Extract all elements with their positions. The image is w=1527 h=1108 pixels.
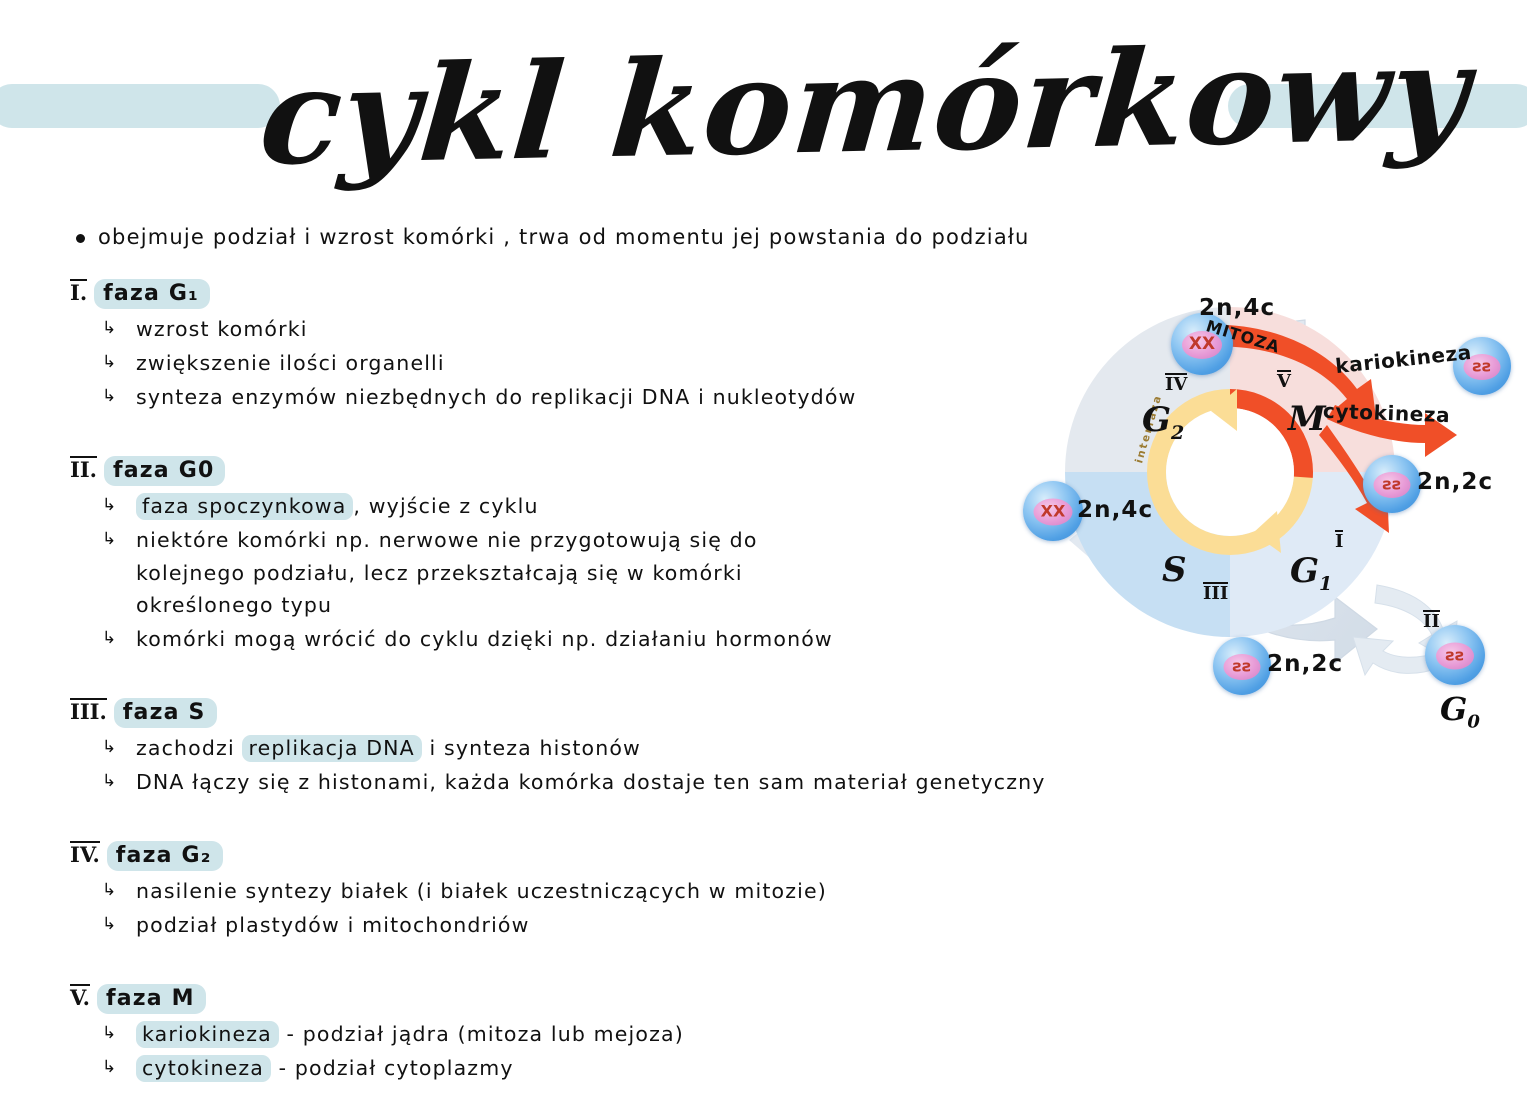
cell-g0: ƨƨ — [1425, 625, 1485, 685]
phase-letter: G — [1440, 690, 1467, 728]
list-item-text: - podział jądra (mitoza lub mejoza) — [279, 1022, 684, 1046]
arrow-icon: ↳ — [102, 527, 117, 551]
section-title: faza G₁ — [94, 279, 210, 309]
list-item-text: DNA łączy się z histonami, każda komórka… — [136, 770, 1046, 794]
cell-bottom: ƨƨ — [1213, 637, 1271, 695]
title-highlight-left — [0, 84, 280, 128]
chromosomes-single: ƨƨ — [1232, 657, 1251, 676]
list-item: ↳ DNA łączy się z histonami, każda komór… — [96, 768, 1270, 797]
cell-cycle-diagram: interfaza G2 M S G1 IV V III I II MITOZA… — [1005, 285, 1525, 750]
intro-bullet: obejmuje podział i wzrost komórki , trwa… — [70, 225, 1270, 249]
highlighted-term: cytokineza — [136, 1055, 271, 1082]
list-item-prefix: zachodzi — [136, 736, 242, 760]
page-title: cykl komórkowy — [255, 32, 1268, 185]
cell-right: ƨƨ — [1363, 455, 1421, 513]
list-item: ↳ cytokineza - podział cytoplazmy — [96, 1054, 1270, 1083]
list-item: ↳ nasilenie syntezy białek (i białek ucz… — [96, 877, 1270, 906]
arrow-icon: ↳ — [102, 626, 117, 650]
arrow-icon: ↳ — [102, 1055, 117, 1079]
cytokineza-label: cytokineza — [1323, 399, 1451, 427]
list-item-text: niektóre komórki np. nerwowe nie przygot… — [136, 528, 758, 552]
bullet-dot-icon — [76, 234, 85, 243]
highlighted-term: kariokineza — [136, 1021, 279, 1048]
list-item-text: - podział cytoplazmy — [271, 1056, 514, 1080]
arrow-icon: ↳ — [102, 912, 117, 936]
section-title: faza M — [97, 984, 206, 1014]
section-g2: IV. faza G₂ ↳ nasilenie syntezy białek (… — [70, 841, 1270, 940]
section-title: faza S — [114, 698, 217, 728]
cell-label-left: 2n,4c — [1077, 497, 1153, 523]
arrow-icon: ↳ — [102, 493, 117, 517]
section-numeral: I. — [70, 279, 87, 304]
arrow-icon: ↳ — [102, 350, 117, 374]
section-title: faza G₂ — [107, 841, 223, 871]
list-item-text: i synteza histonów — [422, 736, 641, 760]
list-item: ↳ kariokineza - podział jądra (mitoza lu… — [96, 1020, 1270, 1049]
list-item-text: synteza enzymów niezbędnych do replikacj… — [136, 385, 856, 409]
arrow-icon: ↳ — [102, 1021, 117, 1045]
cell-left: XX — [1023, 481, 1083, 541]
chromosomes-single: ƨƨ — [1382, 475, 1401, 494]
page-title-row: cykl komórkowy — [0, 60, 1527, 200]
note-page: cykl komórkowy obejmuje podział i wzrost… — [0, 0, 1527, 1080]
section-numeral: II. — [70, 456, 97, 481]
list-item-text: nasilenie syntezy białek (i białek uczes… — [136, 879, 827, 903]
section-title: faza G0 — [104, 456, 226, 486]
phase-subscript: 0 — [1467, 711, 1480, 732]
list-item-text: , wyjście z cyklu — [353, 494, 538, 518]
section-numeral: V. — [70, 984, 90, 1009]
cell-label-bottom: 2n,2c — [1267, 651, 1343, 677]
section-numeral: III. — [70, 698, 107, 723]
arrow-icon: ↳ — [102, 384, 117, 408]
arrow-icon: ↳ — [102, 735, 117, 759]
list-item: ↳ podział plastydów i mitochondriów — [96, 911, 1270, 940]
chromosomes-xx: XX — [1189, 334, 1215, 354]
chromosomes-xx: XX — [1041, 502, 1066, 521]
section-m: V. faza M ↳ kariokineza - podział jądra … — [70, 984, 1270, 1083]
list-item-text: komórki mogą wrócić do cyklu dzięki np. … — [136, 627, 833, 651]
chromosomes-single: ƨƨ — [1472, 357, 1491, 376]
chromosomes-single: ƨƨ — [1445, 646, 1464, 665]
list-item-text: wzrost komórki — [136, 317, 308, 341]
phase-label-g0: G0 — [1440, 690, 1480, 732]
arrow-icon: ↳ — [102, 878, 117, 902]
list-item-text: zwiększenie ilości organelli — [136, 351, 445, 375]
arrow-icon: ↳ — [102, 316, 117, 340]
arrow-icon: ↳ — [102, 769, 117, 793]
section-numeral: IV. — [70, 841, 100, 866]
intro-bullet-text: obejmuje podział i wzrost komórki , trwa… — [98, 225, 1030, 249]
list-item-text: podział plastydów i mitochondriów — [136, 913, 530, 937]
highlighted-term: faza spoczynkowa — [136, 493, 353, 520]
highlighted-term: replikacja DNA — [242, 735, 421, 762]
cell-label-right: 2n,2c — [1417, 469, 1493, 495]
